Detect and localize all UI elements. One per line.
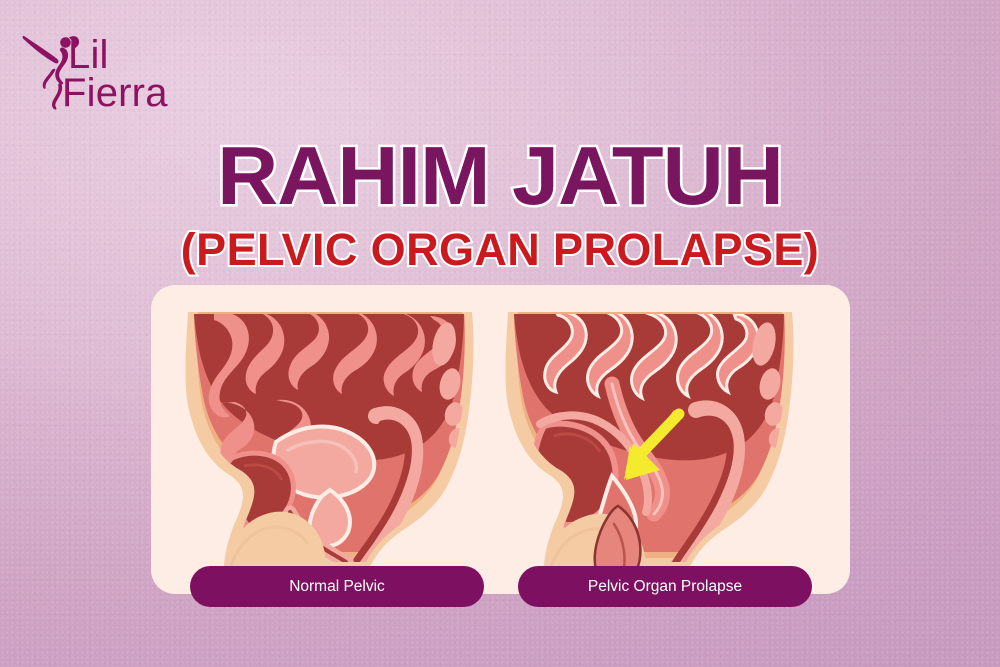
- normal-pelvic-illustration: [180, 300, 500, 570]
- pelvic-organ-prolapse-illustration: [500, 300, 820, 570]
- page-subtitle: (PELVIC ORGAN PROLAPSE): [0, 227, 1000, 272]
- brand-name-line-1: Lil: [68, 36, 168, 74]
- poster-canvas: Lil Fierra RAHIM JATUH (PELVIC ORGAN PRO…: [0, 0, 1000, 667]
- label-pelvic-organ-prolapse[interactable]: Pelvic Organ Prolapse: [518, 566, 812, 607]
- brand-logo[interactable]: Lil Fierra: [22, 28, 212, 124]
- label-normal-pelvic[interactable]: Normal Pelvic: [190, 566, 484, 607]
- figure-pelvic-organ-prolapse: [500, 300, 820, 570]
- brand-wordmark: Lil Fierra: [68, 36, 168, 112]
- brand-name-line-2: Fierra: [62, 74, 168, 112]
- figure-normal-pelvic: [180, 300, 500, 570]
- page-title: RAHIM JATUH: [0, 134, 1000, 217]
